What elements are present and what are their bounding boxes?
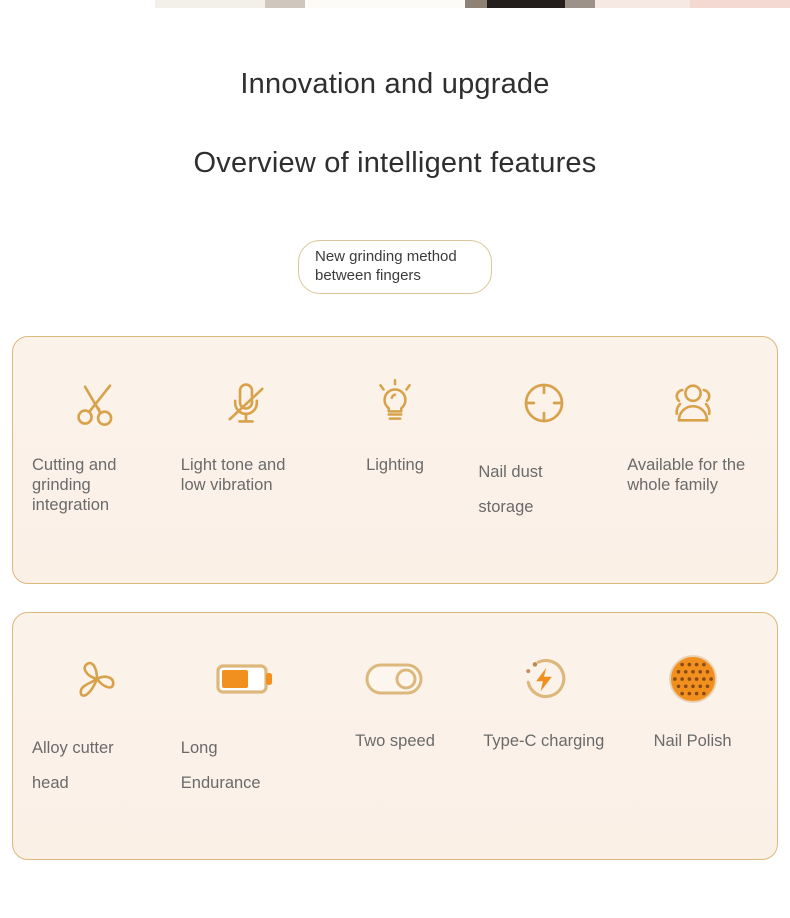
strip-segment (487, 0, 565, 8)
page-subtitle: Overview of intelligent features (0, 145, 790, 181)
people-group-icon (665, 365, 721, 441)
feature-item[interactable]: Long Endurance (172, 641, 321, 859)
feature-item[interactable]: Type-C charging (469, 641, 618, 859)
feature-label: Cutting and grinding integration (22, 455, 173, 515)
lightbulb-icon (370, 365, 420, 441)
feature-item[interactable]: Nail dust storage (469, 365, 618, 583)
feature-label: Light tone and low vibration (171, 455, 322, 495)
feature-label: Available for the whole family (617, 455, 768, 495)
feature-label: Alloy cutter head (22, 731, 173, 801)
crosshair-icon (517, 365, 571, 441)
badge-line-2: between fingers (315, 266, 475, 285)
sanding-disc-icon (664, 641, 722, 717)
strip-segment (690, 0, 790, 8)
top-image-remnant-strip (0, 0, 790, 8)
microphone-muted-icon (220, 365, 272, 441)
feature-label: Two speed (325, 731, 466, 751)
strip-segment (465, 0, 487, 8)
strip-segment (265, 0, 305, 8)
feature-item[interactable]: Light tone and low vibration (172, 365, 321, 583)
feature-item[interactable]: Available for the whole family (618, 365, 767, 583)
grinding-method-badge: New grinding method between fingers (298, 240, 492, 294)
badge-line-1: New grinding method (315, 247, 475, 266)
feature-label: Lighting (325, 455, 466, 475)
strip-segment (305, 0, 465, 8)
feature-label: Nail dust storage (468, 455, 619, 525)
badge-row: New grinding method between fingers (0, 240, 790, 294)
feature-row: Alloy cutter headLong EnduranceTwo speed… (13, 613, 777, 859)
feature-item[interactable]: Lighting (321, 365, 470, 583)
feature-item[interactable]: Cutting and grinding integration (23, 365, 172, 583)
strip-segment (0, 0, 155, 8)
headings-block: Innovation and upgrade Overview of intel… (0, 66, 790, 181)
battery-icon (215, 641, 277, 717)
strip-segment (595, 0, 690, 8)
feature-label: Nail Polish (622, 731, 763, 751)
strip-segment (565, 0, 595, 8)
feature-item[interactable]: Alloy cutter head (23, 641, 172, 859)
feature-item[interactable]: Nail Polish (618, 641, 767, 859)
feature-label: Type-C charging (473, 731, 614, 751)
fast-charging-icon (517, 641, 571, 717)
feature-card-primary: Cutting and grinding integrationLight to… (12, 336, 778, 584)
scissors-icon (71, 365, 123, 441)
strip-segment (155, 0, 265, 8)
page-title: Innovation and upgrade (0, 66, 790, 102)
feature-label: Long Endurance (171, 731, 322, 801)
toggle-switch-icon (364, 641, 426, 717)
feature-item[interactable]: Two speed (321, 641, 470, 859)
feature-row: Cutting and grinding integrationLight to… (13, 337, 777, 583)
fan-blade-icon (71, 641, 123, 717)
feature-card-secondary: Alloy cutter headLong EnduranceTwo speed… (12, 612, 778, 860)
